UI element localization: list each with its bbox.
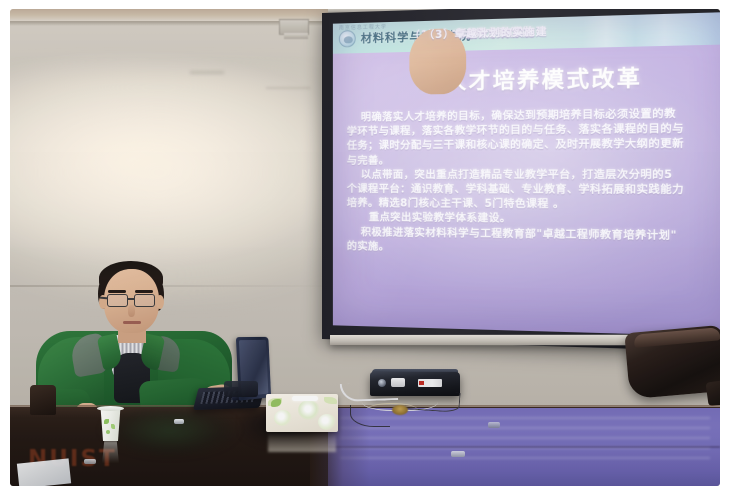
cable-knot xyxy=(392,405,408,415)
slide-line: 以点带面，突出重点打造精品专业教学平台，打造层次分明的5 xyxy=(347,168,720,182)
cup-leaf-graphic xyxy=(104,419,109,424)
slide-line: 培养。精选8门核心主干课、5门特色课程 。 xyxy=(347,197,720,213)
eyebrow xyxy=(108,290,126,293)
projector-label xyxy=(418,379,442,387)
photo-frame: 南京信息工程大学 材料科学与技术学院 1.人才培养模式改革 （1）人才培养方案优… xyxy=(0,0,730,496)
slide-line: 个课程平台：通识教育、学科基础、专业教育、学科拓展和实践能力 xyxy=(347,183,720,198)
cup-leaf-graphic xyxy=(106,430,110,434)
slide-line: 任务；课时分配与三干课和核心课的确定、及时开展教学大纲的更新 xyxy=(347,138,720,154)
paper-sheet xyxy=(17,458,71,486)
tissue-dispensing-slit xyxy=(292,396,318,401)
eyebrow xyxy=(135,290,153,293)
mouth xyxy=(123,321,141,324)
presentation-slide: 南京信息工程大学 材料科学与技术学院 1.人才培养模式改革 （1）人才培养方案优… xyxy=(333,12,720,337)
tissue-flower-graphic xyxy=(274,410,292,426)
slide-title: 1.人才培养模式改革 xyxy=(333,59,720,97)
wall-mark xyxy=(266,87,310,89)
wall-mark xyxy=(190,71,224,74)
small-metal-object xyxy=(488,422,500,428)
projection-screen: 南京信息工程大学 材料科学与技术学院 1.人才培养模式改革 （1）人才培养方案优… xyxy=(322,13,720,339)
small-metal-object xyxy=(84,459,96,464)
floral-tissue-box[interactable] xyxy=(266,394,338,432)
slide-line: 学环节与课程，落实各教学环节的目的与任务、落实各课程的目的与 xyxy=(347,122,720,139)
slide-body: （1）人才培养方案优化 明确落实人才培养的目标，确保达到预期培养目标必须设置的教… xyxy=(333,107,720,259)
office-chair-armrest xyxy=(705,379,720,406)
small-metal-object xyxy=(174,419,184,424)
chair-back-left xyxy=(30,385,56,415)
school-emblem-icon xyxy=(339,30,356,48)
eyeglasses-bridge xyxy=(128,298,134,300)
dark-object-on-table xyxy=(224,381,258,397)
screen-mount-bracket xyxy=(284,33,308,39)
eyeglasses-lens-left xyxy=(107,294,128,307)
slide-line: （3）卓越计划的实施 xyxy=(409,28,466,95)
tissue-box-reflection xyxy=(268,432,336,452)
screen-frame: 南京信息工程大学 材料科学与技术学院 1.人才培养模式改革 （1）人才培养方案优… xyxy=(322,9,720,352)
tissue-flower-graphic xyxy=(298,400,320,420)
slide-line: 与完善。 xyxy=(347,153,720,168)
screen-surface: 南京信息工程大学 材料科学与技术学院 1.人才培养模式改革 （1）人才培养方案优… xyxy=(333,12,720,337)
banner-building-graphic xyxy=(582,12,716,47)
cup-leaf-graphic xyxy=(111,424,115,429)
nose xyxy=(128,305,135,317)
tissue-flower-graphic xyxy=(318,414,336,430)
paper-cup-rim xyxy=(97,406,124,411)
small-metal-object xyxy=(451,451,465,457)
tissue-leaf-graphic xyxy=(324,397,337,404)
photograph: 南京信息工程大学 材料科学与技术学院 1.人才培养模式改革 （1）人才培养方案优… xyxy=(10,9,720,486)
eyeglasses-lens-right xyxy=(134,294,155,307)
ear xyxy=(156,295,164,309)
tissue-brand-logo xyxy=(271,399,281,407)
table-reflection-seam xyxy=(328,446,720,448)
table-reflection-text xyxy=(340,413,710,459)
